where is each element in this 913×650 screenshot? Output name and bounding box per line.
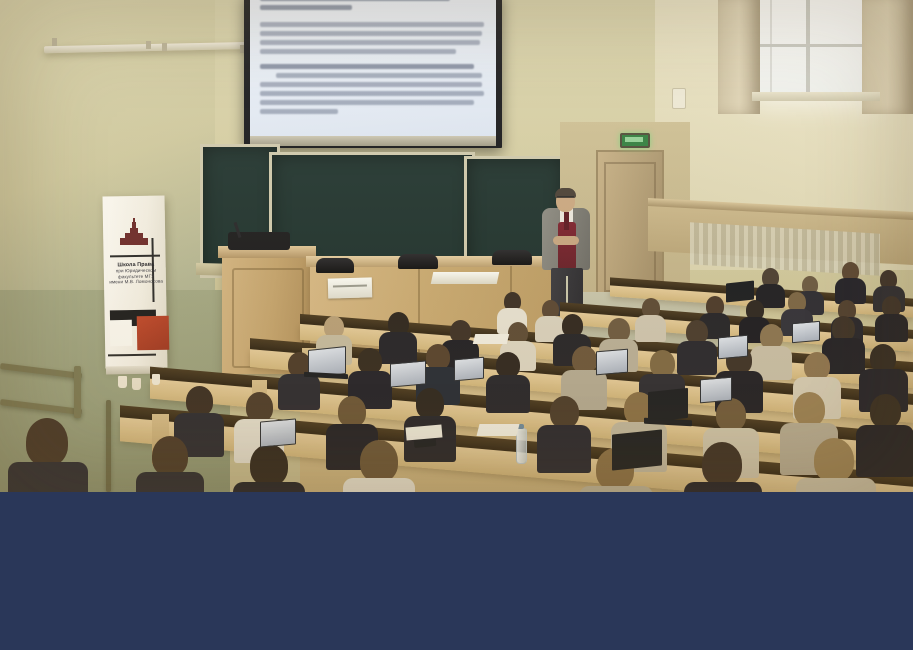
projection-screen-bottom-bar bbox=[250, 136, 496, 146]
projection-screen bbox=[250, 0, 496, 136]
window-sill bbox=[752, 92, 880, 101]
laptop-screen bbox=[648, 388, 688, 422]
window-bar bbox=[770, 0, 772, 94]
school-logo-icon bbox=[120, 222, 148, 246]
laptop-screen bbox=[612, 429, 662, 470]
exit-sign bbox=[620, 133, 650, 148]
aisle-handrail-post bbox=[106, 400, 111, 492]
coffee-cup bbox=[132, 378, 141, 390]
laptop-screen bbox=[792, 321, 820, 343]
laptop-screen bbox=[260, 418, 296, 447]
caption-bar: Лекция в Школе права bbox=[0, 492, 913, 650]
presidium-chair bbox=[492, 250, 532, 265]
window-transom bbox=[760, 44, 872, 47]
window bbox=[760, 0, 872, 94]
table-seam bbox=[418, 266, 420, 366]
banner-text-block: Школа Права при Юридическом факультете М… bbox=[108, 262, 164, 285]
papers-on-desk bbox=[473, 334, 509, 344]
rail-bracket bbox=[146, 41, 151, 49]
laptop-screen bbox=[726, 281, 754, 303]
papers-on-table bbox=[431, 272, 500, 284]
papers-on-desk bbox=[477, 424, 520, 436]
lecturer-hands bbox=[553, 236, 579, 245]
laptop-screen bbox=[700, 377, 732, 404]
coffee-cup bbox=[152, 374, 160, 385]
lecture-hall-photo: Школа Права при Юридическом факультете М… bbox=[0, 0, 913, 492]
laptop-screen bbox=[454, 357, 484, 382]
laptop-screen bbox=[718, 335, 748, 360]
light-switch bbox=[672, 88, 686, 109]
banner-line-4: имени М.В. Ломоносова bbox=[108, 279, 164, 285]
presidium-chair bbox=[316, 258, 354, 273]
aisle-handrail-post bbox=[74, 366, 81, 418]
image-card: Школа Права при Юридическом факультете М… bbox=[0, 0, 913, 650]
rail-bracket bbox=[162, 43, 167, 51]
rail-bracket bbox=[52, 38, 57, 46]
presidium-chair bbox=[398, 254, 438, 269]
banner-shape-red bbox=[137, 316, 170, 351]
laptop-screen bbox=[596, 349, 628, 376]
lecturer-glasses-icon bbox=[557, 196, 574, 201]
desk-nameplate bbox=[328, 277, 373, 298]
laptop-screen bbox=[390, 360, 426, 387]
banner-shape-white bbox=[110, 320, 132, 346]
water-bottle bbox=[516, 428, 527, 464]
window-mullion bbox=[806, 0, 810, 94]
lecturer-tie bbox=[564, 212, 569, 230]
coffee-cup bbox=[118, 376, 127, 388]
